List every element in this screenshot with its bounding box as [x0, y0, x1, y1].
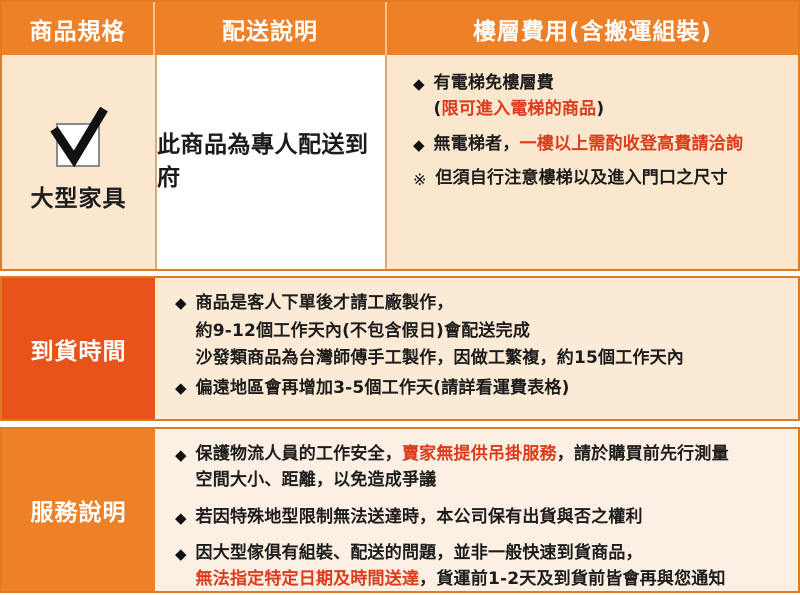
- diamond-bullet-icon: ◆: [175, 442, 187, 467]
- header-label-floor-fee: 樓層費用(含搬運組裝): [473, 12, 712, 46]
- header-cell-spec: 商品規格: [2, 2, 155, 55]
- arrival-item-1-line-2: 約9-12個工作天內(不包含假日)會配送完成: [196, 321, 530, 341]
- fee-item-2: ◆ 無電梯者，一樓以上需酌收登高費請洽詢: [413, 132, 790, 158]
- service-item-3-tail: ，貨運前1-2天及到貨前皆會再與您通知: [419, 569, 726, 589]
- fee-item-3-text: 但須自行注意樓梯以及進入門口之尺寸: [435, 166, 727, 192]
- fee-item-1-line1: 有電梯免樓層費: [434, 73, 554, 93]
- cell-floor-fee: ◆ 有電梯免樓層費 (限可進入電梯的商品) ◆ 無電梯者，一樓以上需酌收登高費請…: [387, 55, 798, 269]
- service-item-3-red: 無法指定特定日期及時間送達: [196, 569, 420, 589]
- diamond-bullet-icon: ◆: [413, 132, 425, 157]
- table-header-row: 商品規格 配送說明 樓層費用(含搬運組裝): [2, 2, 798, 55]
- arrival-item-1-text: 商品是客人下單後才請工廠製作， 約9-12個工作天內(不包含假日)會配送完成 沙…: [196, 290, 684, 373]
- service-item-2-text: 若因特殊地型限制無法送達時，本公司保有出貨與否之權利: [196, 505, 643, 531]
- spec-delivery-fee-block: 商品規格 配送說明 樓層費用(含搬運組裝) 大型家具 此商品為專人配送: [0, 0, 800, 271]
- header-cell-floor-fee: 樓層費用(含搬運組裝): [387, 2, 798, 55]
- product-spec-label: 大型家具: [31, 179, 127, 213]
- service-item-3-text: 因大型傢俱有組裝、配送的問題，並非一般快速到貨商品， 無法指定特定日期及時間送達…: [196, 541, 726, 593]
- diamond-bullet-icon: ◆: [175, 505, 187, 530]
- fee-item-2-lead: 無電梯者，: [434, 134, 520, 154]
- cell-product-spec: 大型家具: [2, 55, 155, 269]
- checked-checkbox-icon: [46, 107, 112, 169]
- arrival-time-block: 到貨時間 ◆ 商品是客人下單後才請工廠製作， 約9-12個工作天內(不包含假日)…: [0, 276, 800, 421]
- service-item-1-line2: 空間大小、距離，以免造成爭議: [196, 470, 437, 490]
- diamond-bullet-icon: ◆: [175, 290, 187, 315]
- row-label-service-notes: 服務說明: [2, 429, 155, 591]
- arrival-time-content: ◆ 商品是客人下單後才請工廠製作， 約9-12個工作天內(不包含假日)會配送完成…: [155, 278, 798, 419]
- fee-item-1-paren-open: (: [434, 99, 442, 119]
- checkmark-icon: [46, 107, 112, 169]
- arrival-item-1: ◆ 商品是客人下單後才請工廠製作， 約9-12個工作天內(不包含假日)會配送完成…: [175, 290, 788, 373]
- service-notes-block: 服務說明 ◆ 保護物流人員的工作安全，賣家無提供吊掛服務，請於購買前先行測量 空…: [0, 427, 800, 593]
- asterisk-note-icon: ※: [413, 166, 426, 193]
- fee-item-1-paren-close: ): [596, 99, 604, 119]
- fee-item-1-red: 限可進入電梯的商品: [442, 99, 597, 119]
- diamond-bullet-icon: ◆: [175, 541, 187, 566]
- service-notes-content: ◆ 保護物流人員的工作安全，賣家無提供吊掛服務，請於購買前先行測量 空間大小、距…: [155, 429, 798, 591]
- service-item-3-line1: 因大型傢俱有組裝、配送的問題，並非一般快速到貨商品，: [196, 543, 643, 563]
- table-body-row-1: 大型家具 此商品為專人配送到府 ◆ 有電梯免樓層費 (限可進入電梯的商品) ◆ …: [2, 55, 798, 269]
- service-item-1-red: 賣家無提供吊掛服務: [402, 444, 557, 464]
- header-label-spec: 商品規格: [30, 12, 126, 46]
- shipping-info-table: 商品規格 配送說明 樓層費用(含搬運組裝) 大型家具 此商品為專人配送: [0, 0, 800, 595]
- delivery-desc-text: 此商品為專人配送到府: [157, 129, 385, 194]
- service-item-3: ◆ 因大型傢俱有組裝、配送的問題，並非一般快速到貨商品， 無法指定特定日期及時間…: [175, 541, 788, 593]
- diamond-bullet-icon: ◆: [175, 375, 187, 400]
- arrival-item-2: ◆ 偏遠地區會再增加3-5個工作天(請詳看運費表格): [175, 375, 788, 403]
- diamond-bullet-icon: ◆: [413, 71, 425, 96]
- arrival-item-1-line-1: 商品是客人下單後才請工廠製作，: [196, 293, 454, 313]
- arrival-item-2-text: 偏遠地區會再增加3-5個工作天(請詳看運費表格): [196, 375, 570, 403]
- arrival-item-1-line-3: 沙發類商品為台灣師傅手工製作，因做工繁複，約15個工作天內: [196, 348, 684, 368]
- cell-delivery-desc: 此商品為專人配送到府: [155, 55, 387, 269]
- service-item-2: ◆ 若因特殊地型限制無法送達時，本公司保有出貨與否之權利: [175, 505, 788, 531]
- fee-item-1: ◆ 有電梯免樓層費 (限可進入電梯的商品): [413, 71, 790, 123]
- fee-item-2-text: 無電梯者，一樓以上需酌收登高費請洽詢: [434, 132, 744, 158]
- header-label-delivery: 配送說明: [222, 12, 318, 46]
- fee-item-2-red: 一樓以上需酌收登高費請洽詢: [520, 134, 744, 154]
- service-item-1-tail: ，請於購買前先行測量: [557, 444, 729, 464]
- row-label-arrival-time: 到貨時間: [2, 278, 155, 419]
- header-cell-delivery: 配送說明: [155, 2, 387, 55]
- service-notes-label: 服務說明: [31, 493, 127, 527]
- service-item-1-text: 保護物流人員的工作安全，賣家無提供吊掛服務，請於購買前先行測量 空間大小、距離，…: [196, 442, 729, 494]
- arrival-time-label: 到貨時間: [31, 332, 127, 366]
- fee-item-3: ※ 但須自行注意樓梯以及進入門口之尺寸: [413, 166, 790, 193]
- fee-item-1-text: 有電梯免樓層費 (限可進入電梯的商品): [434, 71, 605, 123]
- service-item-1: ◆ 保護物流人員的工作安全，賣家無提供吊掛服務，請於購買前先行測量 空間大小、距…: [175, 442, 788, 494]
- service-item-1-lead: 保護物流人員的工作安全，: [196, 444, 402, 464]
